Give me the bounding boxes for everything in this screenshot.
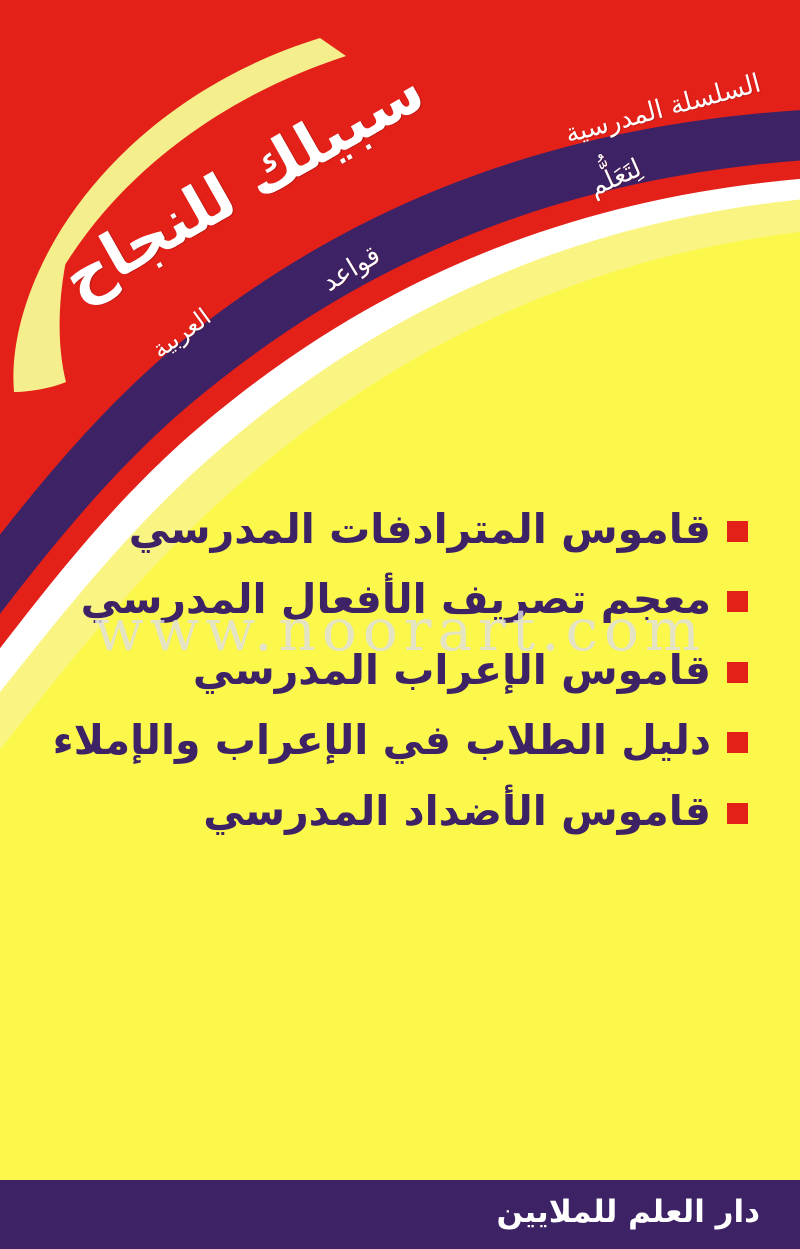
list-item-label: قاموس الأضداد المدرسي	[30, 787, 711, 835]
list-item-label: معجم تصريف الأفعال المدرسي	[30, 575, 711, 623]
book-cover: سبيلك للنجاح السلسلة المدرسية لِتَعَلُّم…	[0, 0, 800, 1249]
square-bullet-icon	[727, 591, 748, 612]
publisher-name: دار العلم للملايين	[497, 1194, 761, 1230]
publisher-bar: دار العلم للملايين	[0, 1173, 800, 1249]
list-item: قاموس الإعراب المدرسي	[0, 646, 800, 694]
list-item: قاموس المترادفات المدرسي	[0, 505, 800, 553]
square-bullet-icon	[727, 732, 748, 753]
square-bullet-icon	[727, 521, 748, 542]
list-item-label: دليل الطلاب في الإعراب والإملاء	[30, 716, 711, 764]
title-list: قاموس المترادفات المدرسي معجم تصريف الأف…	[0, 505, 800, 857]
square-bullet-icon	[727, 803, 748, 824]
list-item: دليل الطلاب في الإعراب والإملاء	[0, 716, 800, 764]
list-item-label: قاموس الإعراب المدرسي	[30, 646, 711, 694]
list-item: قاموس الأضداد المدرسي	[0, 787, 800, 835]
list-item: معجم تصريف الأفعال المدرسي	[0, 575, 800, 623]
list-item-label: قاموس المترادفات المدرسي	[30, 505, 711, 553]
square-bullet-icon	[727, 662, 748, 683]
